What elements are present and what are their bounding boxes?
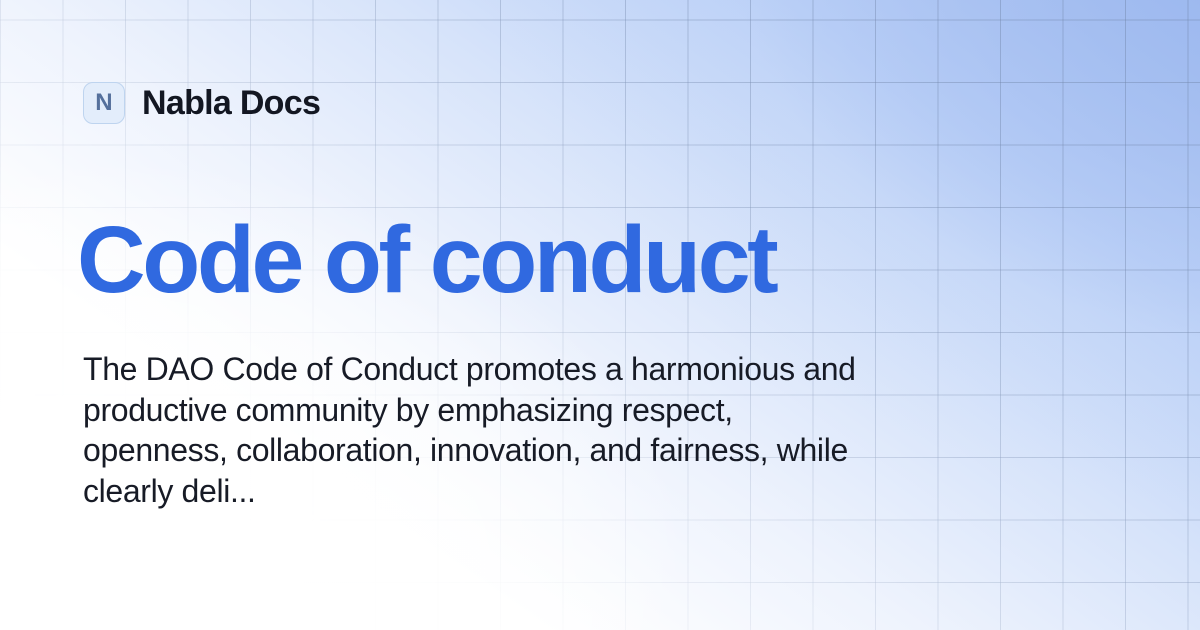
og-preview-card: N Nabla Docs Code of conduct The DAO Cod… <box>0 0 1200 630</box>
brand-header[interactable]: N Nabla Docs <box>83 82 320 124</box>
brand-name-label: Nabla Docs <box>142 86 320 120</box>
nabla-logo-icon: N <box>83 82 125 124</box>
page-title: Code of conduct <box>77 208 775 313</box>
card-content: N Nabla Docs Code of conduct The DAO Cod… <box>83 0 1123 630</box>
nabla-logo-letter: N <box>95 91 113 115</box>
page-description: The DAO Code of Conduct promotes a harmo… <box>83 349 873 511</box>
